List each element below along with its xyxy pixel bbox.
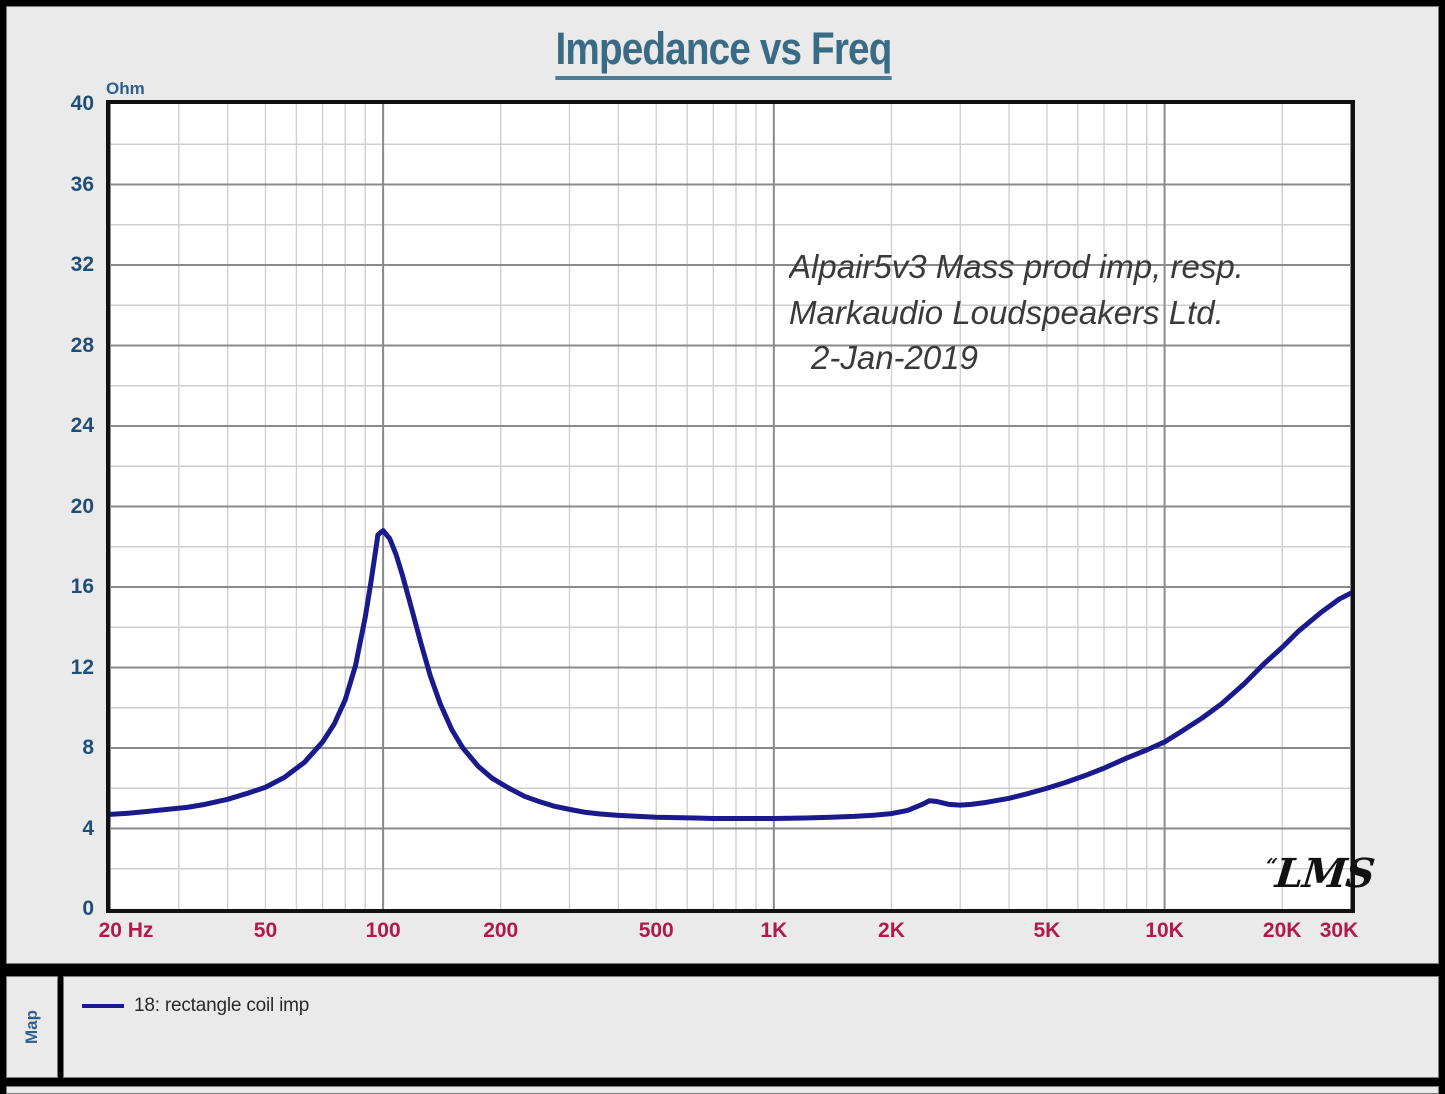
lms-watermark-text: LMS <box>1273 850 1376 897</box>
legend-line-swatch-icon <box>82 1004 124 1008</box>
y-axis-tick-label: 4 <box>12 817 94 841</box>
legend-item-label: 18: rectangle coil imp <box>134 995 309 1017</box>
x-axis-tick-label: 50 <box>254 919 277 943</box>
x-axis-tick-label: 30K <box>1320 919 1359 943</box>
x-axis-tick-label: 500 <box>639 919 674 943</box>
x-axis-tick-label: 5K <box>1034 919 1061 943</box>
x-axis-tick-label: 1K <box>760 919 787 943</box>
y-axis-tick-label: 40 <box>12 92 94 116</box>
x-axis-tick-label: 20 Hz <box>99 919 154 943</box>
chart-panel: Impedance vs Freq Ohm 048121620242832364… <box>6 6 1439 964</box>
y-axis-tick-label: 16 <box>12 575 94 599</box>
legend-strip: Map 18: rectangle coil imp <box>6 976 1439 1078</box>
y-axis-tick-label: 28 <box>12 334 94 358</box>
legend-panel: 18: rectangle coil imp <box>63 976 1439 1078</box>
y-axis-tick-label: 20 <box>12 495 94 519</box>
legend-item[interactable]: 18: rectangle coil imp <box>82 995 309 1017</box>
y-axis-tick-label: 32 <box>12 253 94 277</box>
page-title: Impedance vs Freq <box>107 23 1339 75</box>
bottom-panel-sliver <box>6 1086 1439 1094</box>
map-button[interactable]: Map <box>6 976 58 1078</box>
y-axis-tick-label: 8 <box>12 736 94 760</box>
y-axis-tick-label: 36 <box>12 173 94 197</box>
plot-canvas <box>110 104 1351 909</box>
page-title-text: Impedance vs Freq <box>556 23 892 80</box>
impedance-curve-svg <box>110 104 1351 909</box>
y-axis-tick-label: 0 <box>12 897 94 921</box>
plot-area <box>106 100 1355 913</box>
x-axis-tick-label: 100 <box>366 919 401 943</box>
y-axis-tick-label: 24 <box>12 414 94 438</box>
x-axis-tick-label: 10K <box>1145 919 1184 943</box>
y-axis-unit-label: Ohm <box>106 79 145 99</box>
map-label: Map <box>22 1010 42 1044</box>
x-axis-tick-label: 2K <box>878 919 905 943</box>
chart-window: Impedance vs Freq Ohm 048121620242832364… <box>0 0 1445 1094</box>
lms-watermark: “LMS <box>1263 850 1377 897</box>
x-axis-tick-label: 20K <box>1263 919 1302 943</box>
x-axis-tick-label: 200 <box>483 919 518 943</box>
y-axis-tick-label: 12 <box>12 656 94 680</box>
